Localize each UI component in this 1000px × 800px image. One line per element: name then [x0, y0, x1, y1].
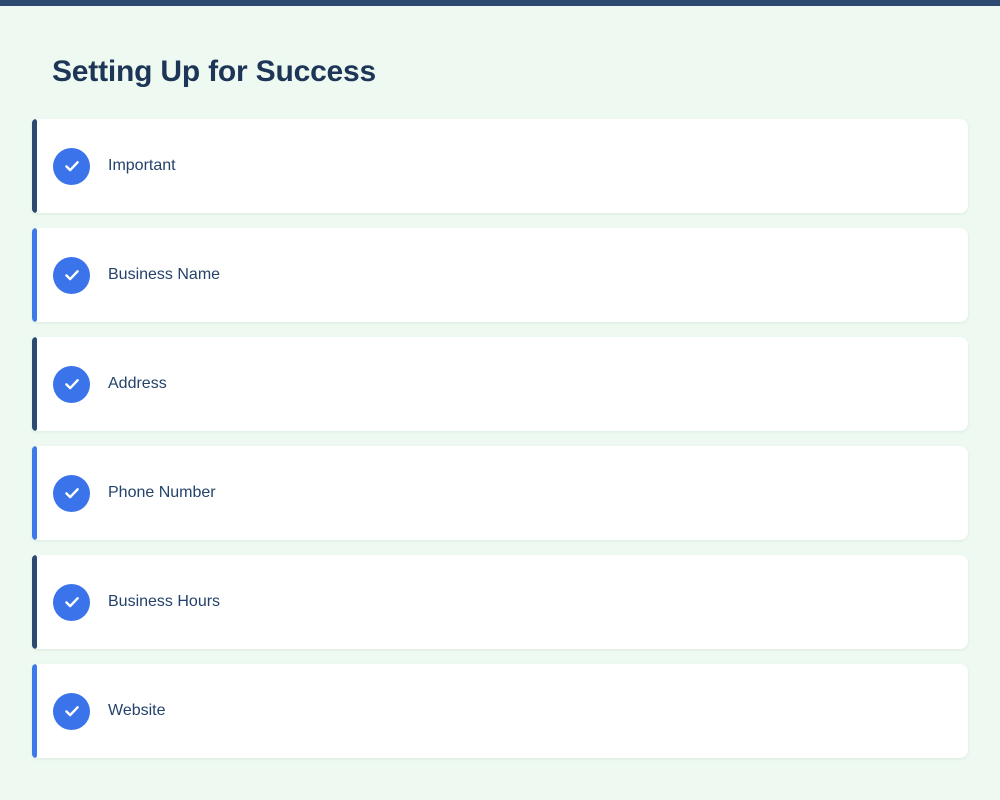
check-circle-icon[interactable] [53, 366, 90, 403]
list-item[interactable]: Phone Number [32, 446, 968, 540]
check-circle-icon[interactable] [53, 584, 90, 621]
list-item-label: Business Name [108, 264, 220, 286]
list-item-label: Website [108, 700, 166, 722]
card-accent-bar [32, 664, 37, 758]
list-item-label: Business Hours [108, 591, 220, 613]
card-accent-bar [32, 555, 37, 649]
check-circle-icon[interactable] [53, 148, 90, 185]
check-circle-icon[interactable] [53, 693, 90, 730]
list-item[interactable]: Website [32, 664, 968, 758]
card-accent-bar [32, 119, 37, 213]
list-item[interactable]: Business Name [32, 228, 968, 322]
list-item[interactable]: Important [32, 119, 968, 213]
page-title: Setting Up for Success [52, 52, 376, 92]
check-circle-icon[interactable] [53, 257, 90, 294]
card-accent-bar [32, 337, 37, 431]
card-accent-bar [32, 446, 37, 540]
list-item-label: Important [108, 155, 176, 177]
list-item[interactable]: Address [32, 337, 968, 431]
card-accent-bar [32, 228, 37, 322]
list-item-label: Address [108, 373, 167, 395]
list-item[interactable]: Business Hours [32, 555, 968, 649]
list-item-label: Phone Number [108, 482, 216, 504]
check-circle-icon[interactable] [53, 475, 90, 512]
checklist: Important Business Name Address Phone Nu… [32, 119, 968, 758]
top-accent-bar [0, 0, 1000, 6]
